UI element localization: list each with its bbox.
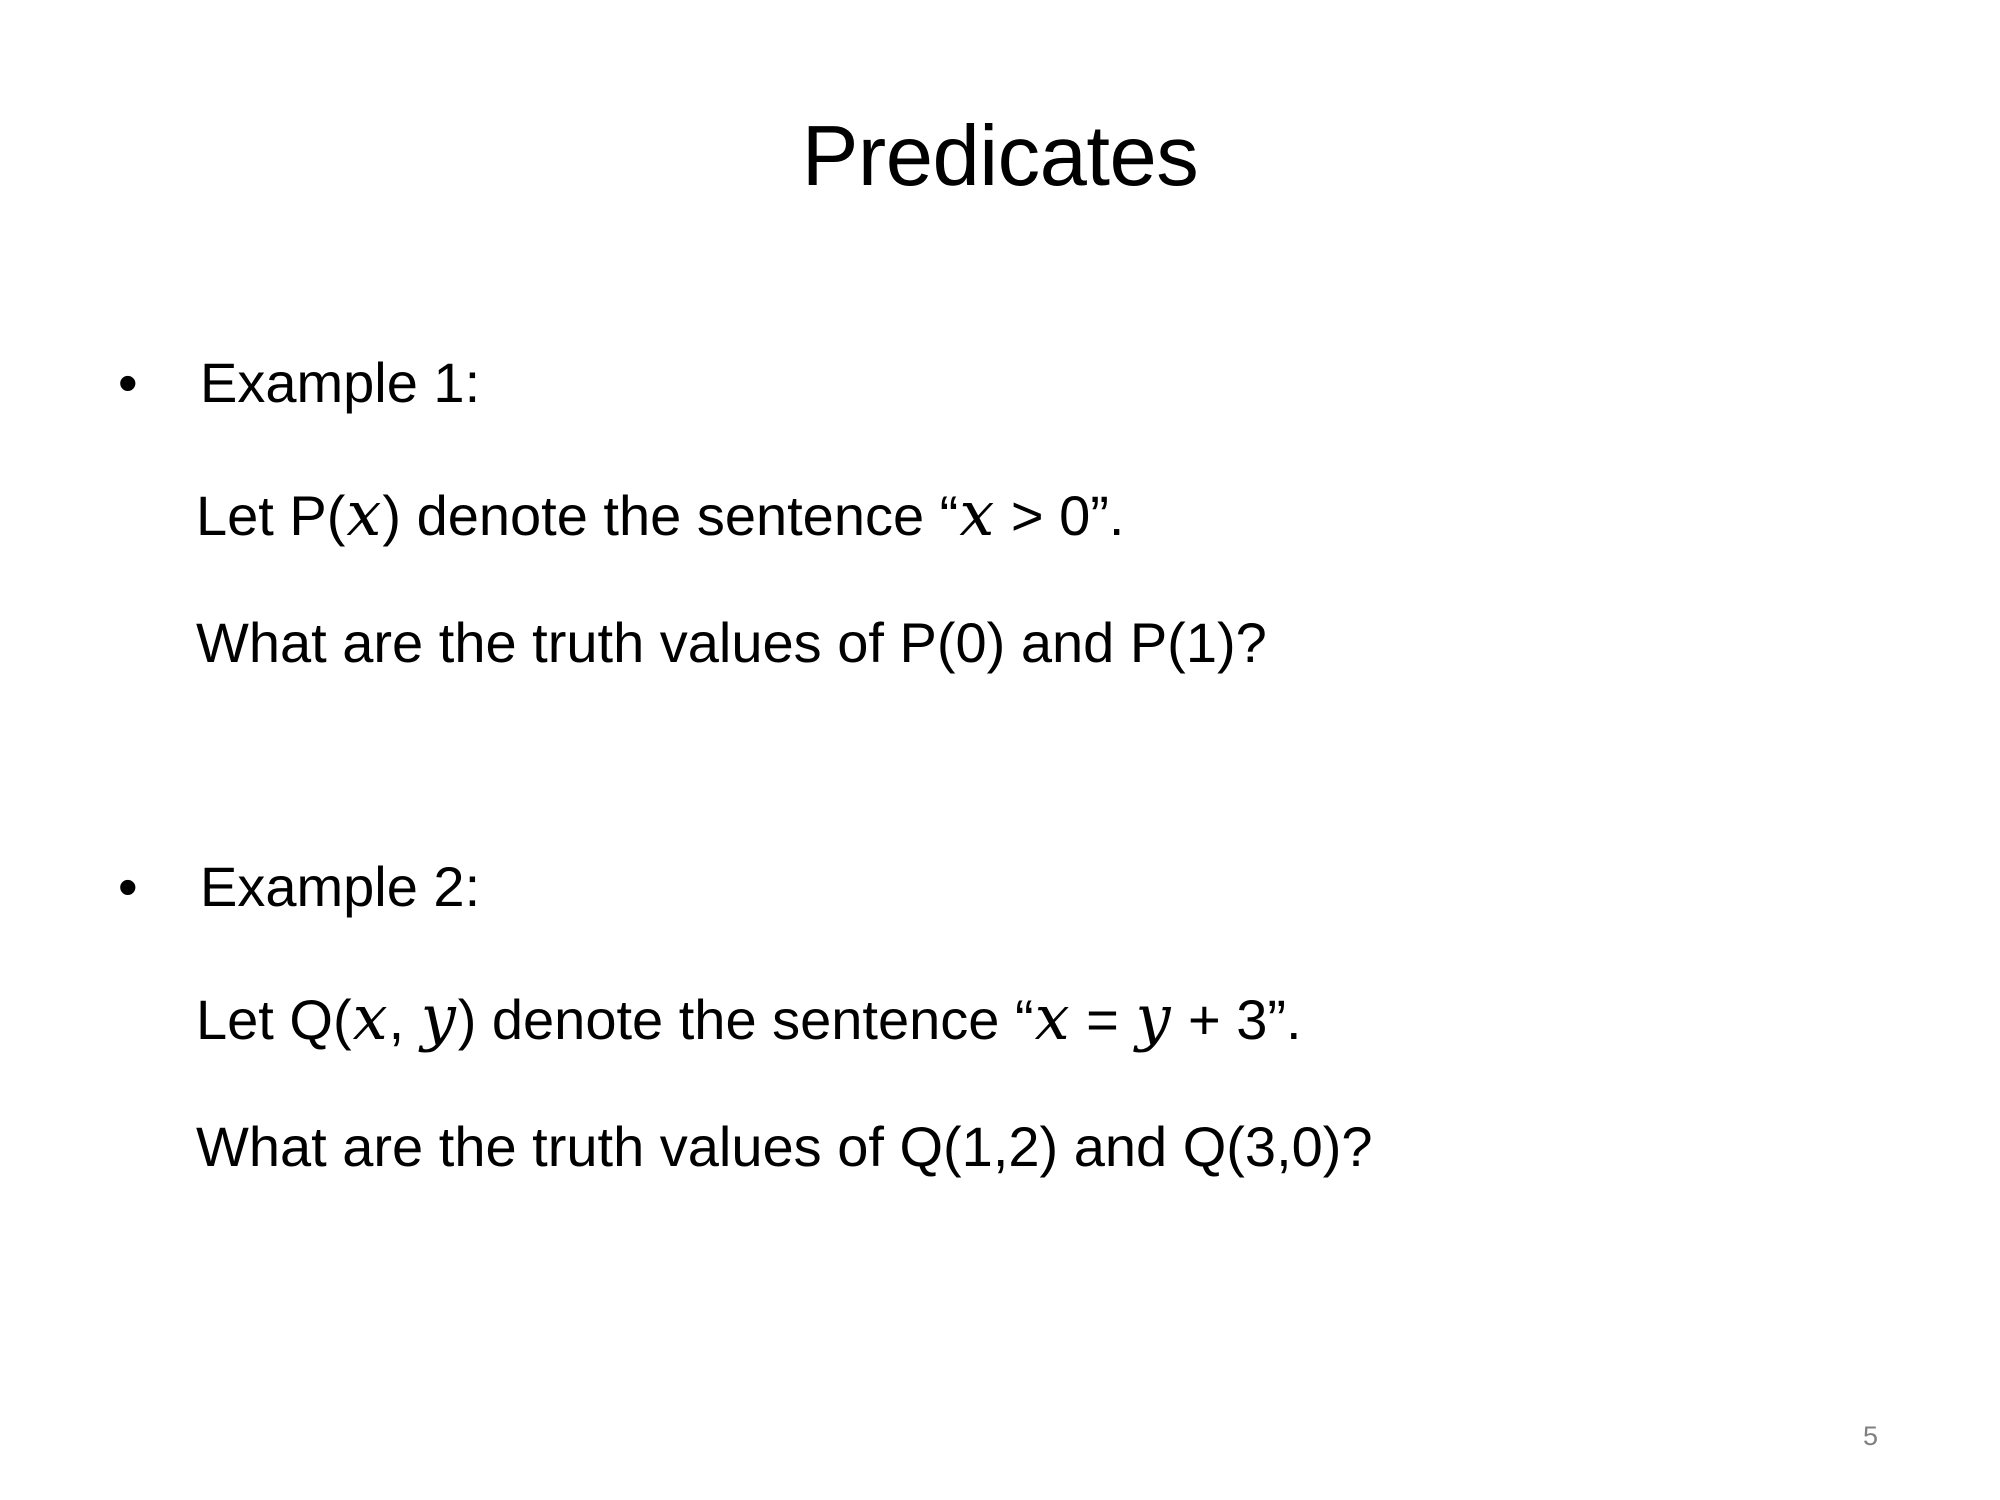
bullet-point-icon: • [118,355,138,411]
math-variable-x: х [345,477,382,550]
example-2-definition-line: Let Q(х, у) denote the sentence “х = у +… [0,987,2000,1049]
spacer [0,915,2000,987]
example-1-definition-line: Let P(х) denote the sentence “х > 0”. [0,483,2000,545]
math-expression-equals: = [1071,988,1135,1051]
slide-canvas: Predicates • Example 1: Let P(х) denote … [0,0,2000,1500]
example-2-def-prefix: Let Q( [196,988,352,1051]
math-variable-y: у [420,981,458,1054]
math-variable-x: х [352,981,389,1054]
spacer [0,1049,2000,1119]
example-2-def-comma: , [389,988,420,1051]
spacer [0,671,2000,859]
math-expression-variable-y: у [1134,981,1172,1054]
example-1-def-mid: ) denote the sentence “ [382,484,958,547]
math-expression-variable-x: х [958,477,995,550]
example-1-question-line: What are the truth values of P(0) and P(… [0,615,2000,671]
example-2-def-suffix: ”. [1267,988,1301,1051]
spacer [0,411,2000,483]
bullet-point-icon: • [118,859,138,915]
slide-body: • Example 1: Let P(х) denote the sentenc… [0,355,2000,1175]
example-1-def-suffix: ”. [1090,484,1124,547]
bullet-item-example-2: • Example 2: [0,859,2000,915]
bullet-item-example-1: • Example 1: [0,355,2000,411]
example-2-question-line: What are the truth values of Q(1,2) and … [0,1119,2000,1175]
spacer [0,545,2000,615]
math-expression-operator: > 0 [995,484,1090,547]
example-1-heading: Example 1: [200,351,480,414]
example-2-def-mid: ) denote the sentence “ [458,988,1034,1051]
example-2-heading: Example 2: [200,855,480,918]
page-title: Predicates [0,112,2000,201]
slide-number: 5 [1863,1421,1878,1452]
math-expression-plus-three: + 3 [1172,988,1267,1051]
math-expression-variable-x: х [1034,981,1071,1054]
example-1-def-prefix: Let P( [196,484,345,547]
